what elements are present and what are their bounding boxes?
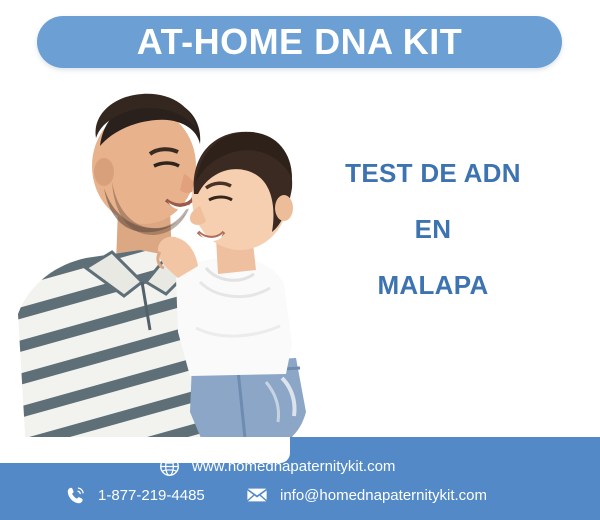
header-title: AT-HOME DNA KIT: [137, 24, 462, 60]
headline-line-1: TEST DE ADN: [333, 160, 533, 186]
phone-icon: [64, 484, 86, 506]
footer-website-row[interactable]: www.homednapaternitykit.com: [158, 455, 395, 477]
footer-phone-row[interactable]: 1-877-219-4485: [64, 484, 205, 506]
father-holding-toddler-photo: [0, 82, 335, 457]
headline-line-2: EN: [333, 216, 533, 242]
footer-website-label: www.homednapaternitykit.com: [192, 459, 395, 474]
globe-icon: [158, 455, 180, 477]
headline-line-3: MALAPA: [333, 272, 533, 298]
headline-block: TEST DE ADN EN MALAPA: [333, 160, 533, 298]
footer-phone-label: 1-877-219-4485: [98, 488, 205, 503]
envelope-icon: [246, 484, 268, 506]
header-banner: AT-HOME DNA KIT: [37, 16, 562, 68]
poster-canvas: AT-HOME DNA KIT: [0, 0, 600, 520]
footer-email-row[interactable]: info@homednapaternitykit.com: [246, 484, 487, 506]
footer-email-label: info@homednapaternitykit.com: [280, 488, 487, 503]
